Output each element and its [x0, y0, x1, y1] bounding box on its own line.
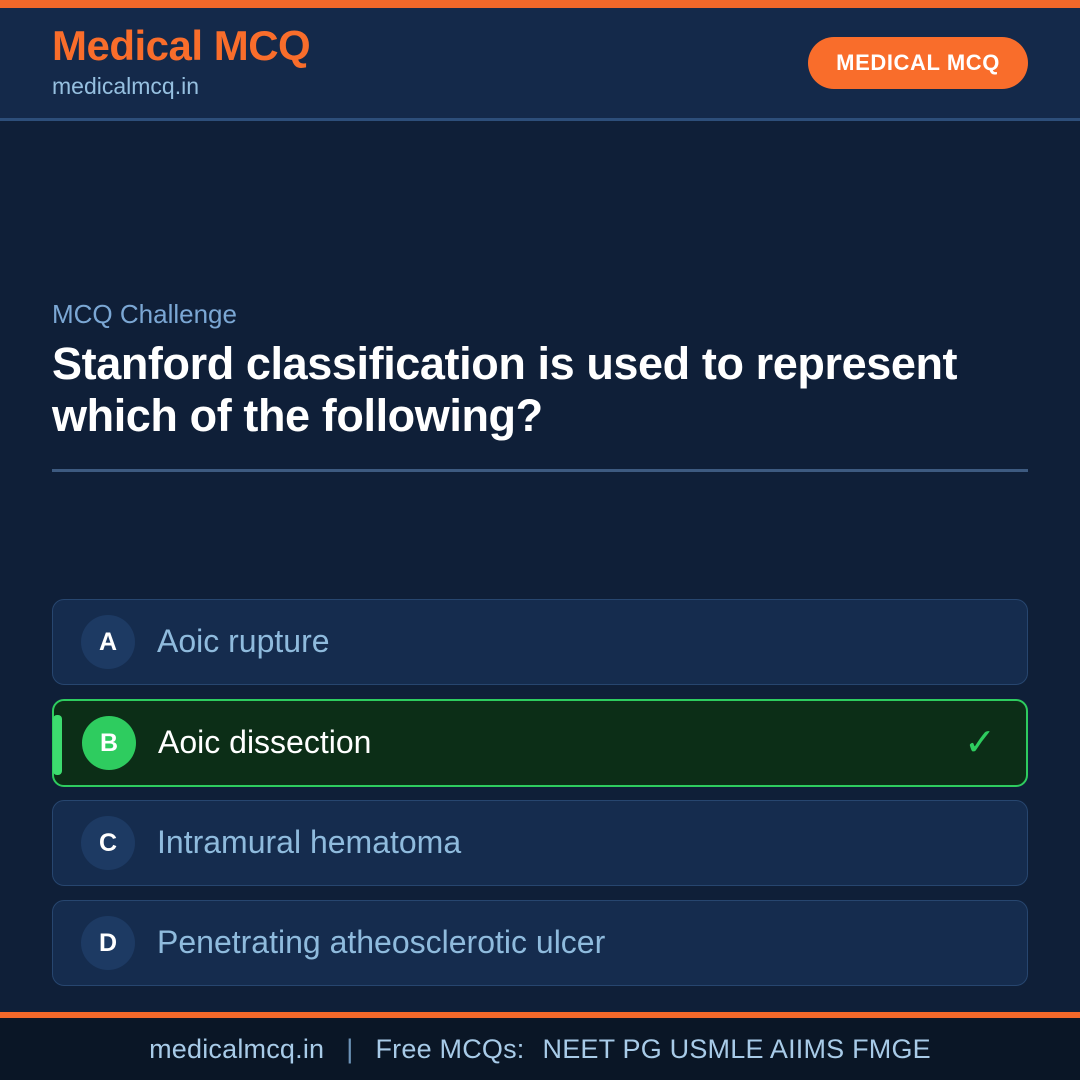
header: Medical MCQ medicalmcq.in MEDICAL MCQ — [0, 8, 1080, 121]
brand-title: Medical MCQ — [52, 25, 310, 68]
question-block: MCQ Challenge Stanford classification is… — [52, 299, 1028, 472]
brand-badge: MEDICAL MCQ — [808, 37, 1028, 89]
option-a-text: Aoic rupture — [157, 624, 330, 659]
footer: medicalmcq.in | Free MCQs: NEET PG USMLE… — [0, 1018, 1080, 1080]
kicker-label: MCQ Challenge — [52, 299, 1028, 330]
option-a[interactable]: A Aoic rupture — [52, 599, 1028, 685]
option-a-letter: A — [81, 615, 135, 669]
footer-separator: | — [346, 1034, 353, 1065]
footer-label: Free MCQs: — [375, 1034, 524, 1065]
correct-accent-bar — [53, 715, 62, 775]
footer-site: medicalmcq.in — [149, 1034, 324, 1065]
option-c-letter: C — [81, 816, 135, 870]
brand: Medical MCQ medicalmcq.in — [52, 25, 310, 101]
option-c-text: Intramural hematoma — [157, 825, 461, 860]
option-c[interactable]: C Intramural hematoma — [52, 800, 1028, 886]
question-divider — [52, 469, 1028, 472]
options-list: A Aoic rupture B Aoic dissection ✓ C Int… — [52, 599, 1028, 1000]
mcq-card: Medical MCQ medicalmcq.in MEDICAL MCQ MC… — [0, 0, 1080, 1080]
option-b-letter: B — [82, 716, 136, 770]
top-accent-bar — [0, 0, 1080, 8]
brand-subtitle: medicalmcq.in — [52, 72, 310, 101]
main-content: MCQ Challenge Stanford classification is… — [0, 121, 1080, 1012]
option-d-text: Penetrating atheosclerotic ulcer — [157, 925, 605, 960]
option-d-letter: D — [81, 916, 135, 970]
option-b[interactable]: B Aoic dissection ✓ — [52, 699, 1028, 787]
option-d[interactable]: D Penetrating atheosclerotic ulcer — [52, 900, 1028, 986]
option-b-text: Aoic dissection — [158, 725, 371, 760]
question-text: Stanford classification is used to repre… — [52, 338, 1028, 442]
footer-exams: NEET PG USMLE AIIMS FMGE — [543, 1034, 931, 1065]
check-icon: ✓ — [964, 724, 996, 762]
